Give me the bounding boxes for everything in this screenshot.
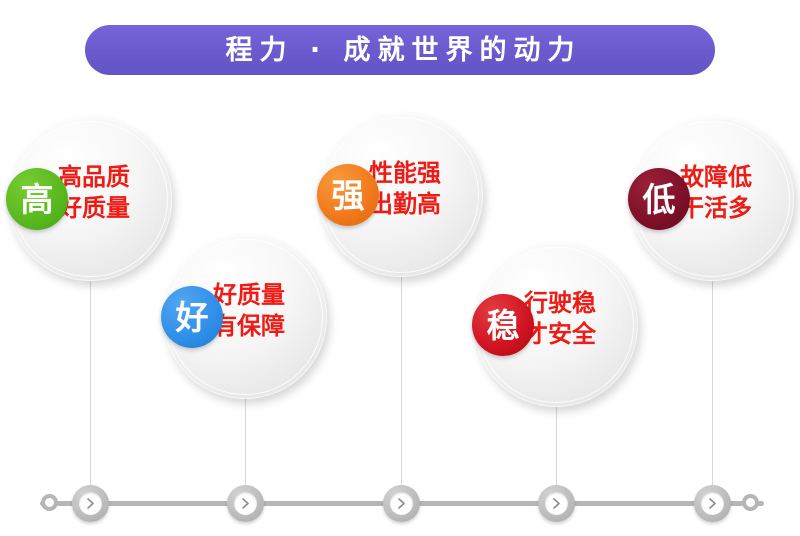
feature-badge-label-4: 稳 bbox=[487, 309, 520, 342]
timeline-node-5[interactable] bbox=[694, 485, 731, 522]
feature-line2-1: 好质量 bbox=[58, 193, 130, 224]
feature-bubble-4[interactable]: 稳 行驶稳 才安全 bbox=[474, 243, 638, 407]
timeline-node-2[interactable] bbox=[227, 485, 264, 522]
feature-badge-4: 稳 bbox=[472, 294, 534, 356]
dot-cap-icon bbox=[41, 494, 58, 511]
feature-line1-4: 行驶稳 bbox=[524, 288, 596, 319]
chevron-right-icon bbox=[79, 492, 102, 515]
feature-badge-3: 强 bbox=[317, 164, 379, 226]
chevron-right-icon bbox=[701, 492, 724, 515]
chevron-right-icon bbox=[545, 492, 568, 515]
dot-cap-icon bbox=[742, 494, 759, 511]
feature-line2-4: 才安全 bbox=[524, 319, 596, 350]
feature-text-1: 高品质 好质量 bbox=[58, 162, 130, 223]
feature-line1-3: 性能强 bbox=[369, 158, 441, 189]
connector-stem-5 bbox=[712, 280, 713, 503]
feature-line2-3: 出勤高 bbox=[369, 189, 441, 220]
feature-bubble-5[interactable]: 低 故障低 干活多 bbox=[630, 117, 794, 281]
feature-bubble-3[interactable]: 强 性能强 出勤高 bbox=[319, 113, 483, 277]
timeline-node-1[interactable] bbox=[72, 485, 109, 522]
page-title: 程力 · 成就世界的动力 bbox=[218, 37, 581, 64]
feature-text-5: 故障低 干活多 bbox=[680, 162, 752, 223]
feature-badge-1: 高 bbox=[6, 168, 68, 230]
feature-badge-label-3: 强 bbox=[332, 179, 365, 212]
connector-stem-1 bbox=[90, 280, 91, 503]
feature-badge-2: 好 bbox=[161, 286, 223, 348]
feature-badge-label-2: 好 bbox=[176, 301, 209, 334]
feature-line2-5: 干活多 bbox=[680, 193, 752, 224]
feature-badge-label-5: 低 bbox=[643, 183, 676, 216]
feature-badge-label-1: 高 bbox=[21, 183, 54, 216]
title-banner: 程力 · 成就世界的动力 bbox=[85, 25, 715, 75]
feature-bubble-2[interactable]: 好 好质量 有保障 bbox=[163, 235, 327, 399]
timeline-node-3[interactable] bbox=[383, 485, 420, 522]
feature-badge-5: 低 bbox=[628, 168, 690, 230]
feature-line2-2: 有保障 bbox=[213, 311, 285, 342]
feature-text-3: 性能强 出勤高 bbox=[369, 158, 441, 219]
timeline-node-4[interactable] bbox=[538, 485, 575, 522]
feature-line1-2: 好质量 bbox=[213, 280, 285, 311]
feature-bubble-1[interactable]: 高 高品质 好质量 bbox=[8, 117, 172, 281]
feature-line1-1: 高品质 bbox=[58, 162, 130, 193]
feature-line1-5: 故障低 bbox=[680, 162, 752, 193]
feature-text-2: 好质量 有保障 bbox=[213, 280, 285, 341]
feature-text-4: 行驶稳 才安全 bbox=[524, 288, 596, 349]
infographic-canvas: 程力 · 成就世界的动力 高 高品质 好质量 好 好质量 有保障 强 性能强 出… bbox=[0, 0, 800, 536]
connector-stem-3 bbox=[401, 276, 402, 503]
chevron-right-icon bbox=[390, 492, 413, 515]
chevron-right-icon bbox=[234, 492, 257, 515]
